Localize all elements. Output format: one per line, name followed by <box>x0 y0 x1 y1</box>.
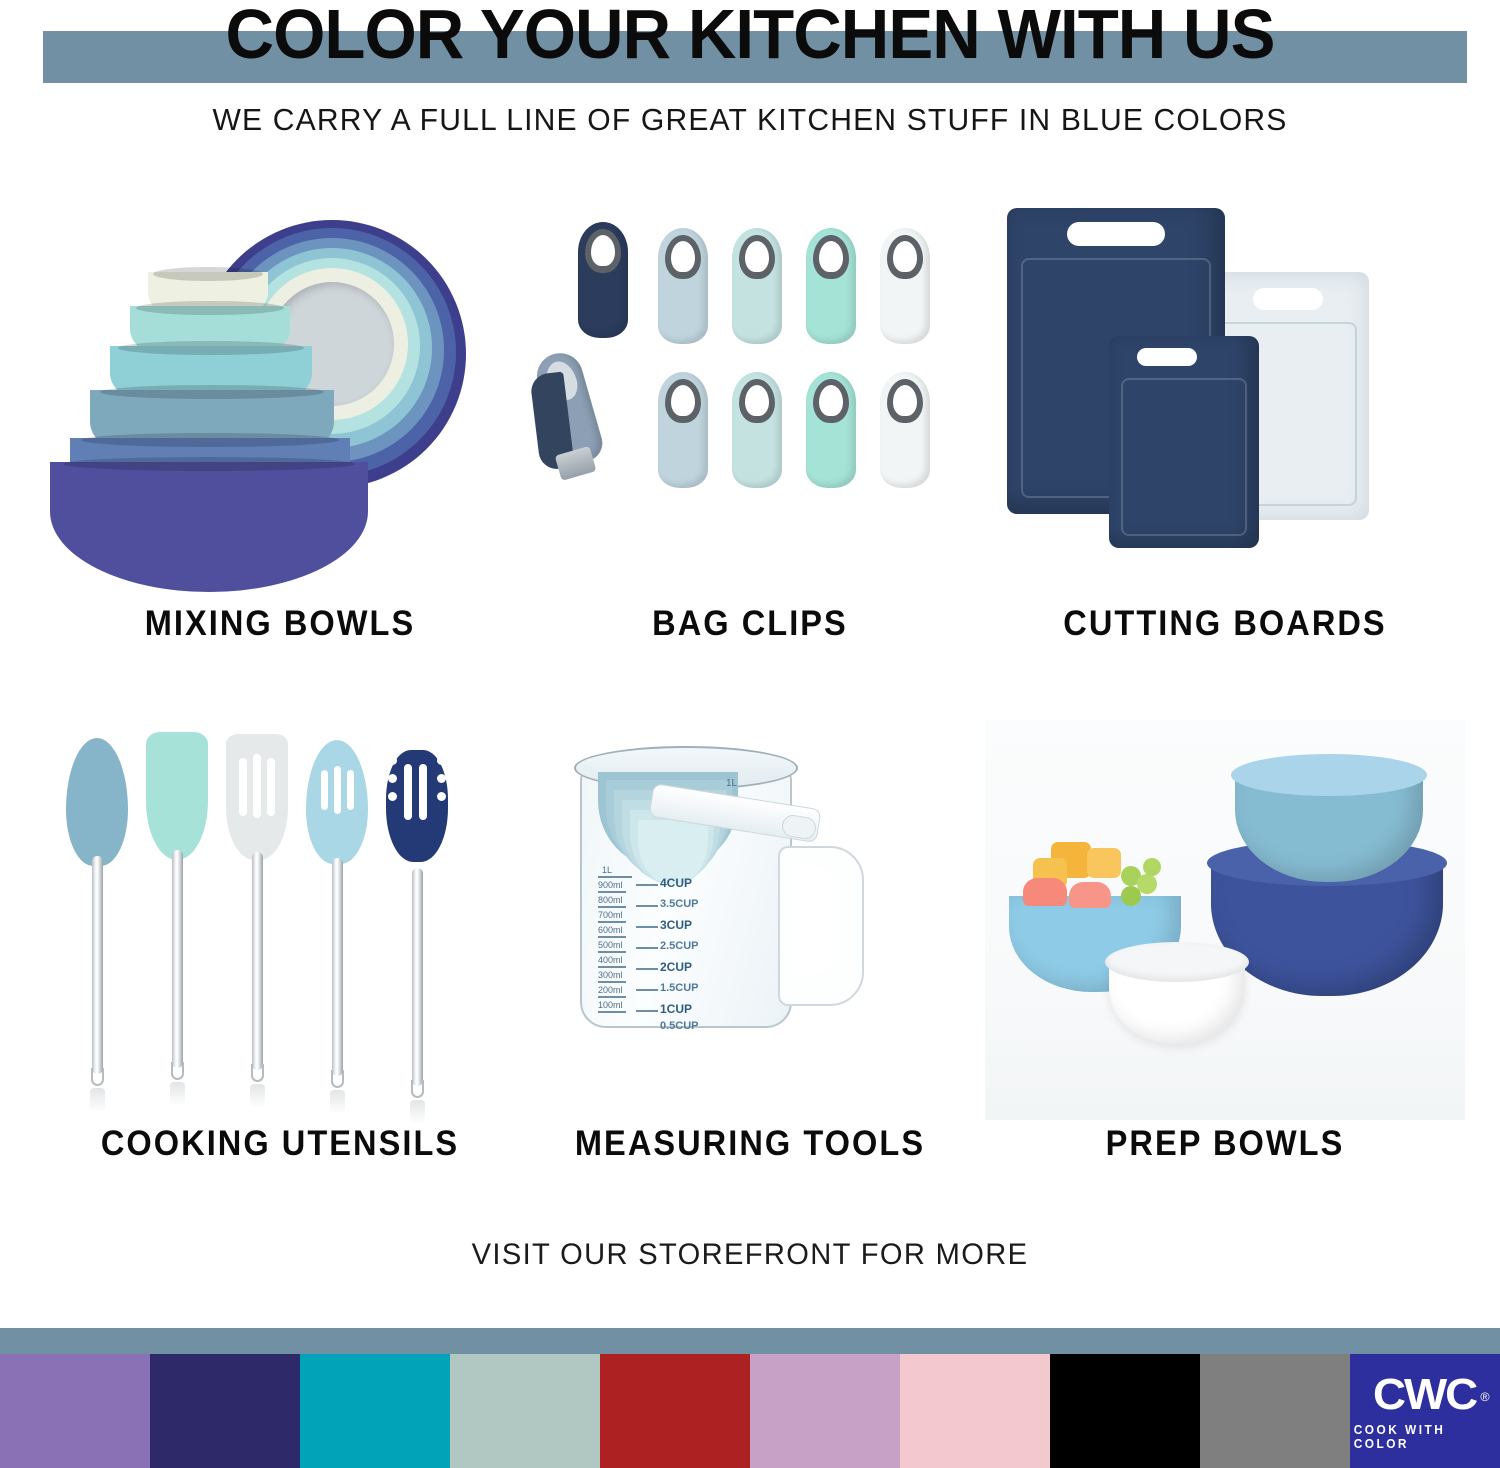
product-label-measuring-tools: MEASURING TOOLS <box>527 1124 973 1164</box>
bag-clip-lightblue-1 <box>658 228 708 344</box>
jug-ml-label-200: 200ml <box>598 985 623 995</box>
jug-cup-label-2: 2CUP <box>660 960 692 974</box>
color-swatch-strip: CWC® COOK WITH COLOR <box>0 1354 1500 1468</box>
cutting-boards-image <box>985 200 1465 600</box>
prep-lid-blue <box>1231 754 1427 796</box>
storefront-cta[interactable]: VISIT OUR STOREFRONT FOR MORE <box>23 1238 1478 1272</box>
fruit-cluster <box>1017 840 1173 910</box>
jug-tick-400 <box>598 966 626 968</box>
jug-tick-800 <box>598 906 626 908</box>
bag-clip-mint-1 <box>806 228 856 344</box>
swatch-gray <box>1200 1354 1350 1468</box>
jug-tick-500 <box>598 951 626 953</box>
swatch-blush-pink <box>900 1354 1050 1468</box>
product-cell-cooking-utensils[interactable]: COOKING UTENSILS <box>40 720 520 1190</box>
swatch-sage <box>450 1354 600 1468</box>
bag-clip-aqua-1 <box>732 228 782 344</box>
product-label-mixing-bowls: MIXING BOWLS <box>57 604 503 644</box>
swatch-navy-indigo <box>150 1354 300 1468</box>
product-cell-prep-bowls[interactable]: PREP BOWLS <box>985 720 1465 1190</box>
jug-tick-cup-4 <box>636 884 658 886</box>
product-cell-cutting-boards[interactable]: CUTTING BOARDS <box>985 200 1465 670</box>
swatch-red <box>600 1354 750 1468</box>
jug-tick-cup-1 <box>636 1010 658 1012</box>
jug-ml-label-500: 500ml <box>598 940 623 950</box>
measuring-tools-image: 1L 1L 900ml 800ml 700ml 600ml 500ml 400m… <box>510 720 990 1120</box>
jug-cup-label-35: 3.5CUP <box>660 898 699 910</box>
bag-clip-white-1 <box>880 228 930 344</box>
jug-ml-label-100: 100ml <box>598 1000 623 1010</box>
jug-tick-1L <box>598 876 632 878</box>
prep-lid-white <box>1105 942 1249 982</box>
jug-tick-cup-15 <box>636 989 658 991</box>
bag-clip-navy <box>578 222 628 338</box>
jug-ml-label-800: 800ml <box>598 895 623 905</box>
utensil-pasta-server <box>386 750 448 1102</box>
promo-infographic: COLOR YOUR KITCHEN WITH US WE CARRY A FU… <box>0 0 1500 1468</box>
jug-label-1L-top: 1L <box>726 778 737 789</box>
measuring-jug-handle-inner <box>792 866 840 974</box>
jug-tick-cup-25 <box>636 947 658 949</box>
product-label-cutting-boards: CUTTING BOARDS <box>1002 604 1448 644</box>
mixing-bowl-1 <box>50 462 368 592</box>
jug-ml-label-600: 600ml <box>598 925 623 935</box>
jug-ml-label-1L: 1L <box>602 865 612 875</box>
cutting-board-medium-navy <box>1109 336 1259 548</box>
jug-cup-label-3: 3CUP <box>660 918 692 932</box>
product-label-bag-clips: BAG CLIPS <box>527 604 973 644</box>
swatch-royal-blue-logo: CWC® COOK WITH COLOR <box>1350 1354 1500 1468</box>
product-cell-bag-clips[interactable]: BAG CLIPS <box>510 200 990 670</box>
utensil-spoon <box>66 738 128 1090</box>
jug-ml-label-900: 900ml <box>598 880 623 890</box>
product-label-cooking-utensils: COOKING UTENSILS <box>57 1124 503 1164</box>
jug-ml-label-400: 400ml <box>598 955 623 965</box>
utensil-slotted-turner <box>226 734 288 1086</box>
jug-tick-700 <box>598 921 626 923</box>
product-cell-measuring-tools[interactable]: 1L 1L 900ml 800ml 700ml 600ml 500ml 400m… <box>510 720 990 1190</box>
bag-clip-open-angled <box>518 345 624 499</box>
bag-clip-aqua-2 <box>732 372 782 488</box>
jug-ml-label-700: 700ml <box>598 910 623 920</box>
bag-clip-lightblue-2 <box>658 372 708 488</box>
jug-cup-label-15: 1.5CUP <box>660 982 699 994</box>
jug-tick-cup-35 <box>636 905 658 907</box>
registered-trademark-icon: ® <box>1481 1374 1490 1420</box>
bag-clip-mint-2 <box>806 372 856 488</box>
swatch-mauve <box>750 1354 900 1468</box>
jug-cup-label-4: 4CUP <box>660 876 692 890</box>
jug-ml-label-300: 300ml <box>598 970 623 980</box>
jug-cup-label-1: 1CUP <box>660 1002 692 1016</box>
bag-clip-white-2 <box>880 372 930 488</box>
jug-tick-100 <box>598 1011 626 1013</box>
product-grid: MIXING BOWLS <box>0 190 1500 1250</box>
cooking-utensils-image <box>40 720 520 1120</box>
jug-tick-cup-3 <box>636 926 658 928</box>
page-title: COLOR YOUR KITCHEN WITH US <box>30 0 1470 74</box>
bag-clips-image <box>510 200 990 600</box>
logo-tagline: COOK WITH COLOR <box>1354 1423 1497 1451</box>
jug-tick-200 <box>598 996 626 998</box>
prep-bowls-image <box>985 720 1465 1120</box>
jug-cup-label-25: 2.5CUP <box>660 940 699 952</box>
mixing-bowls-image <box>40 200 520 600</box>
utensil-slotted-spoon <box>306 740 368 1092</box>
footer-accent-band <box>0 1328 1500 1354</box>
swatch-teal <box>300 1354 450 1468</box>
product-cell-mixing-bowls[interactable]: MIXING BOWLS <box>40 200 520 670</box>
jug-tick-900 <box>598 891 626 893</box>
jug-tick-300 <box>598 981 626 983</box>
swatch-purple <box>0 1354 150 1468</box>
brand-logo: CWC® COOK WITH COLOR <box>1350 1354 1500 1468</box>
jug-cup-label-05: 0.5CUP <box>660 1020 699 1032</box>
page-subtitle: WE CARRY A FULL LINE OF GREAT KITCHEN ST… <box>23 100 1478 140</box>
swatch-black <box>1050 1354 1200 1468</box>
product-label-prep-bowls: PREP BOWLS <box>1002 1124 1448 1164</box>
logo-wordmark: CWC® <box>1373 1372 1476 1418</box>
logo-mark-text: CWC <box>1373 1370 1476 1419</box>
jug-tick-600 <box>598 936 626 938</box>
utensil-spatula <box>146 732 208 1084</box>
jug-tick-cup-2 <box>636 968 658 970</box>
header: COLOR YOUR KITCHEN WITH US WE CARRY A FU… <box>0 0 1500 150</box>
